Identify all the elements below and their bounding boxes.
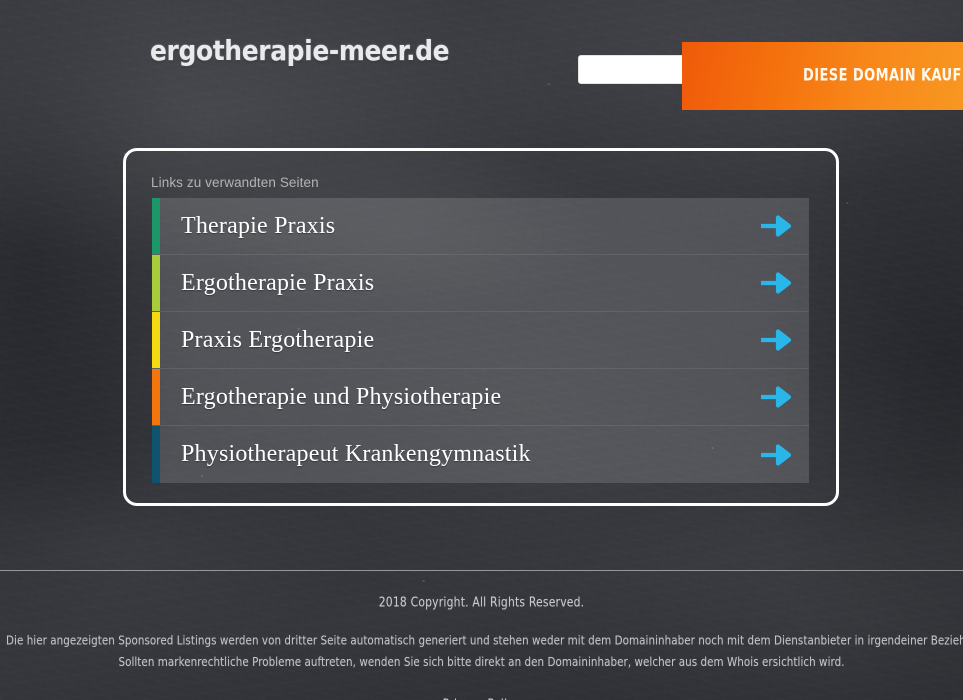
- accent-bar: [152, 255, 160, 311]
- accent-bar: [152, 312, 160, 368]
- page-footer: 2018 Copyright. All Rights Reserved. Die…: [0, 585, 963, 700]
- footer-divider: [0, 570, 963, 571]
- arrow-right-icon[interactable]: [759, 442, 793, 468]
- privacy-policy-link[interactable]: Privacy Policy: [443, 696, 521, 700]
- related-links-list: Therapie Praxis Ergotherapie Praxis Prax…: [152, 198, 809, 483]
- copyright-text: 2018 Copyright. All Rights Reserved.: [0, 594, 963, 609]
- buy-domain-button[interactable]: DIESE DOMAIN KAUFEN.: [682, 42, 963, 110]
- search-input[interactable]: [578, 55, 699, 84]
- list-item-label: Physiotherapeut Krankengymnastik: [181, 441, 531, 468]
- accent-bar: [152, 198, 160, 254]
- arrow-right-icon[interactable]: [759, 213, 793, 239]
- list-item[interactable]: Ergotherapie und Physiotherapie: [152, 369, 809, 426]
- buy-domain-button-label: DIESE DOMAIN KAUFEN.: [803, 67, 963, 85]
- list-item-label: Ergotherapie Praxis: [181, 270, 374, 297]
- arrow-right-icon[interactable]: [759, 384, 793, 410]
- list-item-label: Praxis Ergotherapie: [181, 327, 374, 354]
- disclaimer-text: Die hier angezeigten Sponsored Listings …: [0, 629, 963, 672]
- arrow-right-icon[interactable]: [759, 327, 793, 353]
- disclaimer-line-1: Die hier angezeigten Sponsored Listings …: [6, 629, 957, 651]
- list-item[interactable]: Physiotherapeut Krankengymnastik: [152, 426, 809, 483]
- related-links-heading: Links zu verwandten Seiten: [151, 175, 319, 190]
- list-item[interactable]: Praxis Ergotherapie: [152, 312, 809, 369]
- list-item-label: Therapie Praxis: [181, 213, 335, 240]
- accent-bar: [152, 369, 160, 425]
- page-header: ergotherapie-meer.de DIESE DOMAIN KAUFEN…: [0, 0, 963, 140]
- accent-bar: [152, 426, 160, 483]
- disclaimer-line-2: Sollten markenrechtliche Probleme auftre…: [6, 651, 957, 673]
- site-title: ergotherapie-meer.de: [150, 34, 449, 66]
- list-item[interactable]: Therapie Praxis: [152, 198, 809, 255]
- list-item[interactable]: Ergotherapie Praxis: [152, 255, 809, 312]
- list-item-label: Ergotherapie und Physiotherapie: [181, 384, 501, 411]
- arrow-right-icon[interactable]: [759, 270, 793, 296]
- related-links-panel: Links zu verwandten Seiten Therapie Prax…: [123, 148, 839, 506]
